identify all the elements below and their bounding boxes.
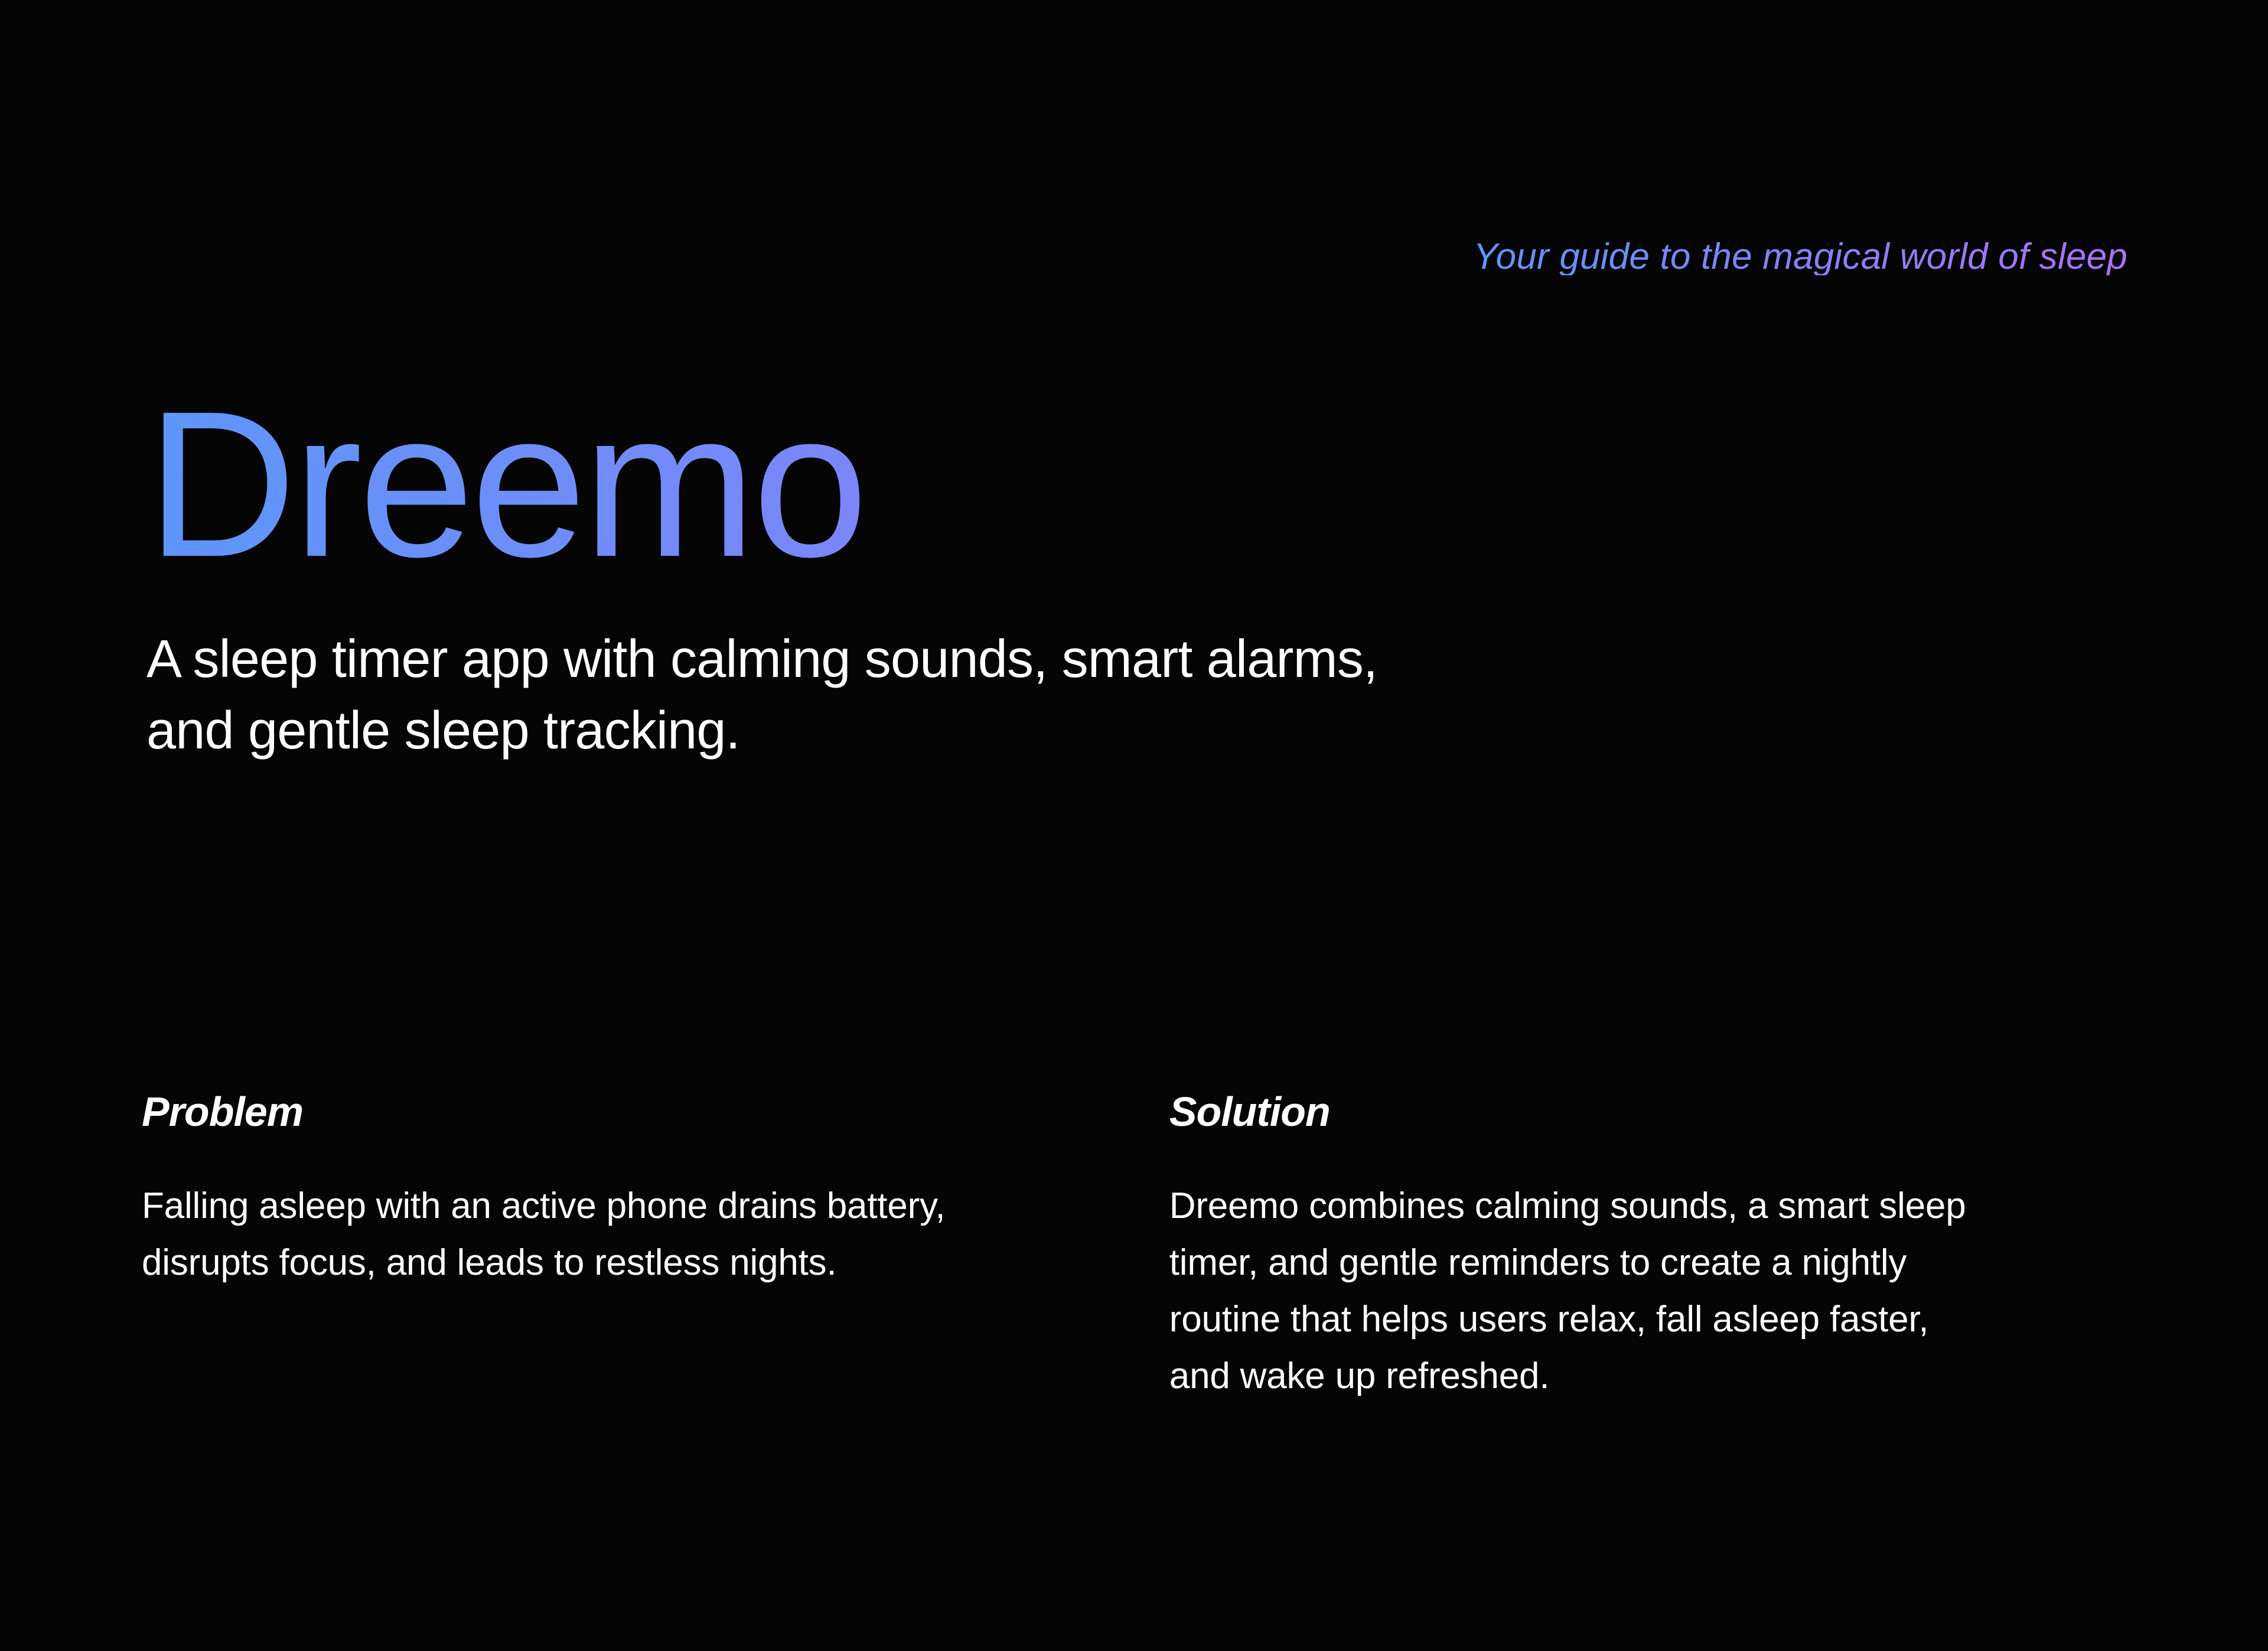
solution-body-line: routine that helps users relax, fall asl…	[1169, 1291, 2091, 1348]
solution-body: Dreemo combines calming sounds, a smart …	[1169, 1178, 2091, 1405]
solution-body-line: and wake up refreshed.	[1169, 1348, 2091, 1405]
solution-heading: Solution	[1169, 1090, 2162, 1134]
problem-body-line: disrupts focus, and leads to restless ni…	[142, 1235, 1063, 1291]
page-title: Dreemo	[146, 376, 1682, 592]
hero-subtitle-line: A sleep timer app with calming sounds, s…	[146, 624, 1505, 695]
problem-column: Problem Falling asleep with an active ph…	[142, 1090, 1152, 1405]
solution-body-line: Dreemo combines calming sounds, a smart …	[1169, 1178, 2091, 1235]
problem-heading: Problem	[142, 1090, 1152, 1134]
solution-column: Solution Dreemo combines calming sounds,…	[1152, 1090, 2162, 1405]
slide-root: Your guide to the magical world of sleep…	[0, 0, 2268, 1651]
problem-body-line: Falling asleep with an active phone drai…	[142, 1178, 1063, 1235]
hero-section: Dreemo A sleep timer app with calming so…	[146, 376, 1682, 766]
problem-body: Falling asleep with an active phone drai…	[142, 1178, 1063, 1291]
problem-solution-columns: Problem Falling asleep with an active ph…	[142, 1090, 2162, 1405]
solution-body-line: timer, and gentle reminders to create a …	[1169, 1235, 2091, 1291]
hero-subtitle: A sleep timer app with calming sounds, s…	[146, 624, 1505, 766]
tagline: Your guide to the magical world of sleep	[1474, 239, 2127, 275]
hero-subtitle-line: and gentle sleep tracking.	[146, 695, 1505, 767]
